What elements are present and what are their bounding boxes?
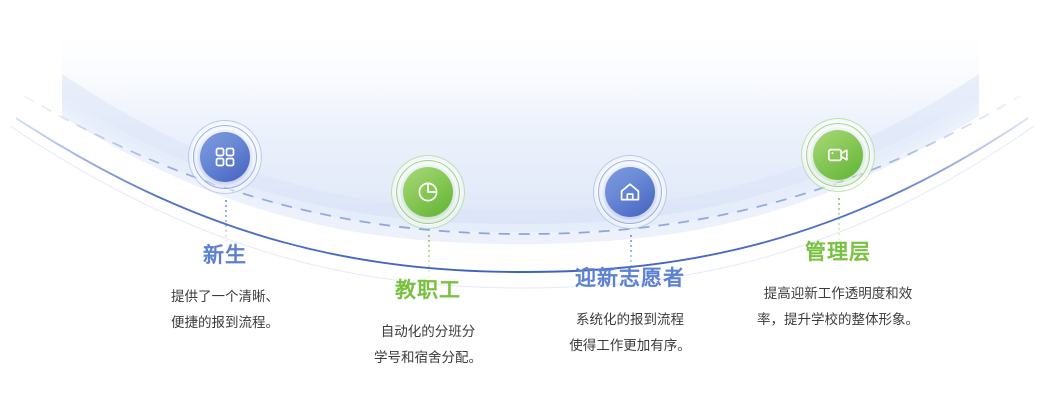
caption-body-faculty: 自动化的分班分 学号和宿舍分配。 — [328, 319, 528, 371]
caption-body-line: 率，提升学校的整体形象。 — [723, 307, 953, 333]
caption-body-line: 学号和宿舍分配。 — [328, 345, 528, 371]
caption-body-management: 提高迎新工作透明度和效 率，提升学校的整体形象。 — [723, 281, 953, 333]
connector-management — [838, 198, 840, 242]
pie-chart-icon — [416, 180, 440, 204]
caption-title-volunteer: 迎新志愿者 — [525, 266, 735, 291]
caption-title-management: 管理层 — [723, 240, 953, 265]
caption-title-faculty: 教职工 — [328, 278, 528, 303]
caption-title-freshman: 新生 — [120, 243, 330, 268]
caption-faculty: 教职工 自动化的分班分 学号和宿舍分配。 — [328, 278, 528, 371]
caption-body-line: 提供了一个清晰、 — [120, 284, 330, 310]
caption-freshman: 新生 提供了一个清晰、 便捷的报到流程。 — [120, 243, 330, 336]
caption-body-line: 系统化的报到流程 — [525, 307, 735, 333]
video-camera-icon — [826, 143, 850, 167]
connector-faculty — [428, 235, 430, 279]
caption-body-volunteer: 系统化的报到流程 使得工作更加有序。 — [525, 307, 735, 359]
caption-body-line: 使得工作更加有序。 — [525, 333, 735, 359]
node-disc-freshman[interactable] — [200, 132, 250, 182]
caption-management: 管理层 提高迎新工作透明度和效 率，提升学校的整体形象。 — [723, 240, 953, 333]
caption-body-line: 提高迎新工作透明度和效 — [723, 281, 953, 307]
caption-body-line: 自动化的分班分 — [328, 319, 528, 345]
node-disc-faculty[interactable] — [403, 167, 453, 217]
node-disc-management[interactable] — [813, 130, 863, 180]
home-icon — [618, 180, 642, 204]
caption-volunteer: 迎新志愿者 系统化的报到流程 使得工作更加有序。 — [525, 266, 735, 359]
infographic-canvas: 新生 提供了一个清晰、 便捷的报到流程。 教职工 自动化的分班分 — [0, 0, 1041, 403]
caption-body-line: 便捷的报到流程。 — [120, 310, 330, 336]
caption-body-freshman: 提供了一个清晰、 便捷的报到流程。 — [120, 284, 330, 336]
connector-freshman — [225, 200, 227, 244]
node-disc-volunteer[interactable] — [605, 167, 655, 217]
grid-apps-icon — [213, 145, 237, 169]
